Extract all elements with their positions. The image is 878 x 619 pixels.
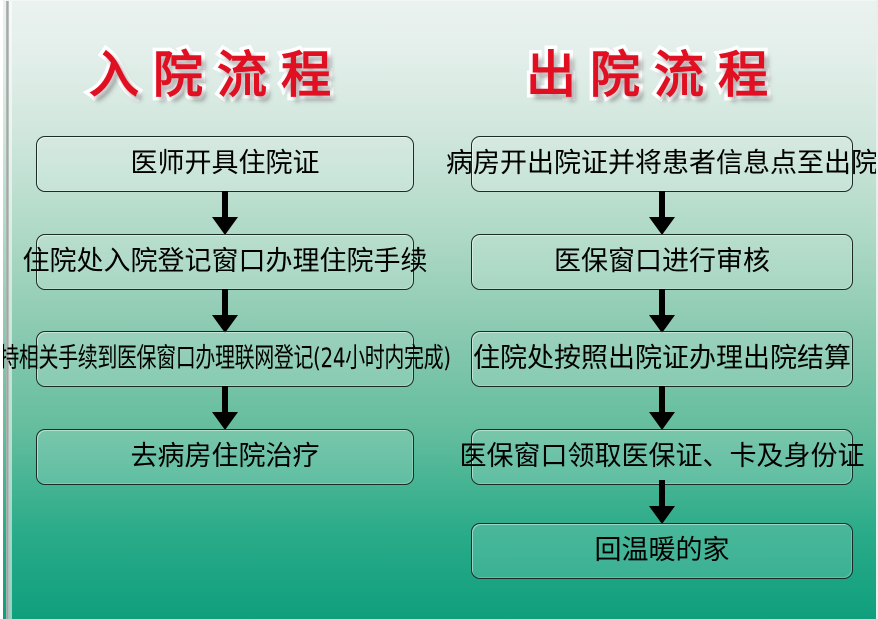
flow-node-admission-3[interactable]: 持相关手续到医保窗口办理联网登记(24小时内完成) (36, 331, 414, 387)
flow-arrow-down-icon (649, 289, 675, 333)
flow-node-label: 去病房住院治疗 (131, 442, 320, 472)
flow-node-discharge-1[interactable]: 病房开出院证并将患者信息点至出院 (471, 136, 853, 192)
flow-node-label: 持相关手续到医保窗口办理联网登记(24小时内完成) (0, 344, 451, 374)
flow-node-label: 住院处入院登记窗口办理住院手续 (23, 247, 428, 277)
flow-node-label: 医师开具住院证 (131, 149, 320, 179)
flow-arrow-down-icon (212, 191, 238, 235)
flow-node-discharge-3[interactable]: 住院处按照出院证办理出院结算 (471, 331, 853, 387)
flow-node-label: 医保窗口进行审核 (554, 247, 770, 277)
flow-node-admission-4[interactable]: 去病房住院治疗 (36, 429, 414, 485)
flow-node-admission-1[interactable]: 医师开具住院证 (36, 136, 414, 192)
flow-node-label: 回温暖的家 (595, 536, 730, 566)
flow-arrow-down-icon (649, 386, 675, 430)
flow-arrow-down-icon (212, 386, 238, 430)
flow-node-admission-2[interactable]: 住院处入院登记窗口办理住院手续 (36, 234, 414, 290)
admission-flow-title: 入院流程 (0, 47, 437, 103)
flow-node-label: 医保窗口领取医保证、卡及身份证 (460, 442, 865, 472)
flow-node-discharge-5[interactable]: 回温暖的家 (471, 523, 853, 579)
discharge-flow-title: 出院流程 (435, 47, 873, 103)
flow-node-label: 住院处按照出院证办理出院结算 (473, 344, 851, 374)
flow-arrow-down-icon (649, 480, 675, 524)
flow-node-discharge-2[interactable]: 医保窗口进行审核 (471, 234, 853, 290)
flowchart-poster: 入院流程 医师开具住院证 住院处入院登记窗口办理住院手续 持相关手续到医保窗口办… (0, 0, 878, 619)
flow-arrow-down-icon (212, 289, 238, 333)
flow-arrow-down-icon (649, 191, 675, 235)
flow-node-discharge-4[interactable]: 医保窗口领取医保证、卡及身份证 (471, 429, 853, 485)
flow-node-label: 病房开出院证并将患者信息点至出院 (446, 149, 878, 179)
